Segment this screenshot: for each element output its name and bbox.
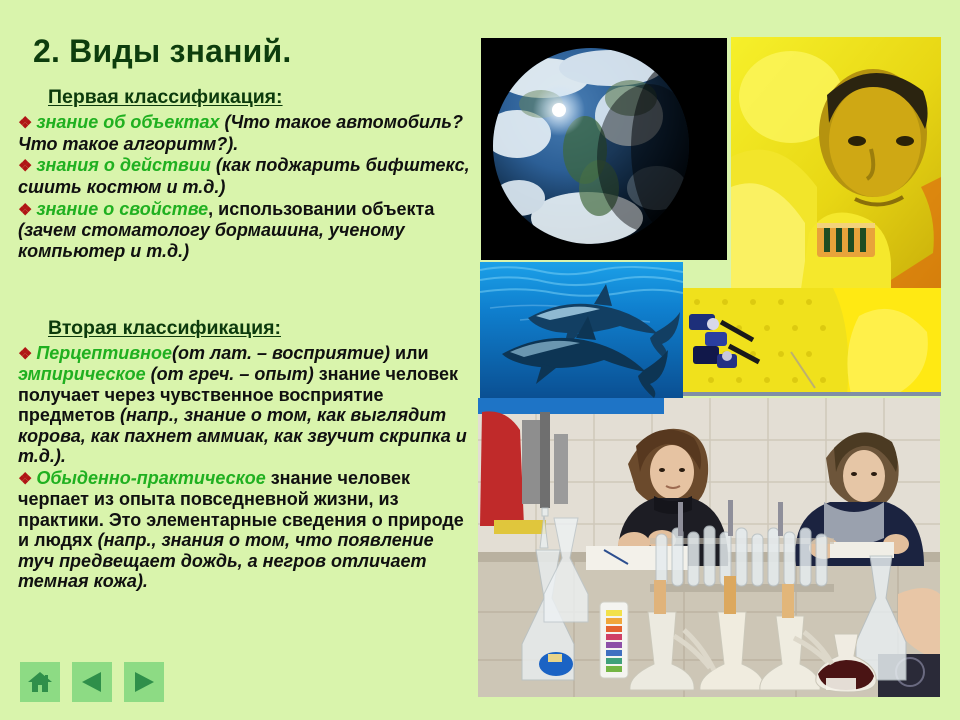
home-button[interactable]: [20, 662, 60, 702]
list-item: ❖знание об объектах (Что такое автомобил…: [18, 112, 470, 154]
page-title: 2. Виды знаний.: [33, 33, 291, 70]
navigation-bar: [20, 662, 164, 702]
slide: 2. Виды знаний. Первая классификация: ❖з…: [0, 0, 960, 720]
lab-equipment-yellow-photo: [683, 288, 941, 396]
list-item: ❖Перцептивное(от лат. – восприятие) или …: [18, 343, 474, 467]
previous-slide-button[interactable]: [72, 662, 112, 702]
term-knowledge-about-action: знания о действии: [36, 155, 211, 175]
subheading-second-classification: Вторая классификация:: [48, 317, 474, 340]
arrow-left-icon: [79, 670, 105, 694]
next-slide-button[interactable]: [124, 662, 164, 702]
term-knowledge-about-objects: знание об объектах: [36, 112, 219, 132]
list-item: ❖знание о свойстве, использовании объект…: [18, 199, 470, 262]
term-empirical: эмпирическое: [18, 364, 146, 384]
classification-block-first: Первая классификация: ❖знание об объекта…: [18, 86, 470, 263]
list-item: ❖Обыденно-практическое знание человек че…: [18, 468, 474, 592]
bullet-diamond-icon: ❖: [18, 346, 31, 363]
dolphins-underwater-photo: [480, 262, 683, 399]
connector-or: или: [390, 343, 429, 363]
list-item: ❖знания о действии (как поджарить бифште…: [18, 155, 470, 197]
text-column: 2. Виды знаний. Первая классификация: ❖з…: [0, 0, 478, 720]
list-item-detail: (зачем стоматологу бормашина, ученому ко…: [18, 220, 405, 261]
term-everyday-practical: Обыденно-практическое: [36, 468, 265, 488]
classification-block-second: Вторая классификация: ❖Перцептивное(от л…: [18, 317, 474, 593]
bullet-diamond-icon: ❖: [18, 202, 31, 219]
term-perceptual: Перцептивное: [36, 343, 172, 363]
earth-from-space-photo: [481, 38, 727, 260]
home-icon: [27, 670, 53, 694]
students-chemistry-lab-photo: [478, 398, 940, 697]
term-perceptual-origin: (от лат. – восприятие): [172, 343, 390, 363]
arrow-right-icon: [131, 670, 157, 694]
term-knowledge-about-property: знание о свойстве: [36, 199, 208, 219]
bullet-diamond-icon: ❖: [18, 115, 31, 132]
bullet-diamond-icon: ❖: [18, 471, 31, 488]
scientist-with-chip-photo: [731, 37, 941, 289]
bullet-diamond-icon: ❖: [18, 158, 31, 175]
subheading-first-classification: Первая классификация:: [48, 86, 470, 109]
list-item-detail-bold: , использовании объекта: [208, 199, 434, 219]
term-empirical-origin: (от греч. – опыт): [146, 364, 314, 384]
